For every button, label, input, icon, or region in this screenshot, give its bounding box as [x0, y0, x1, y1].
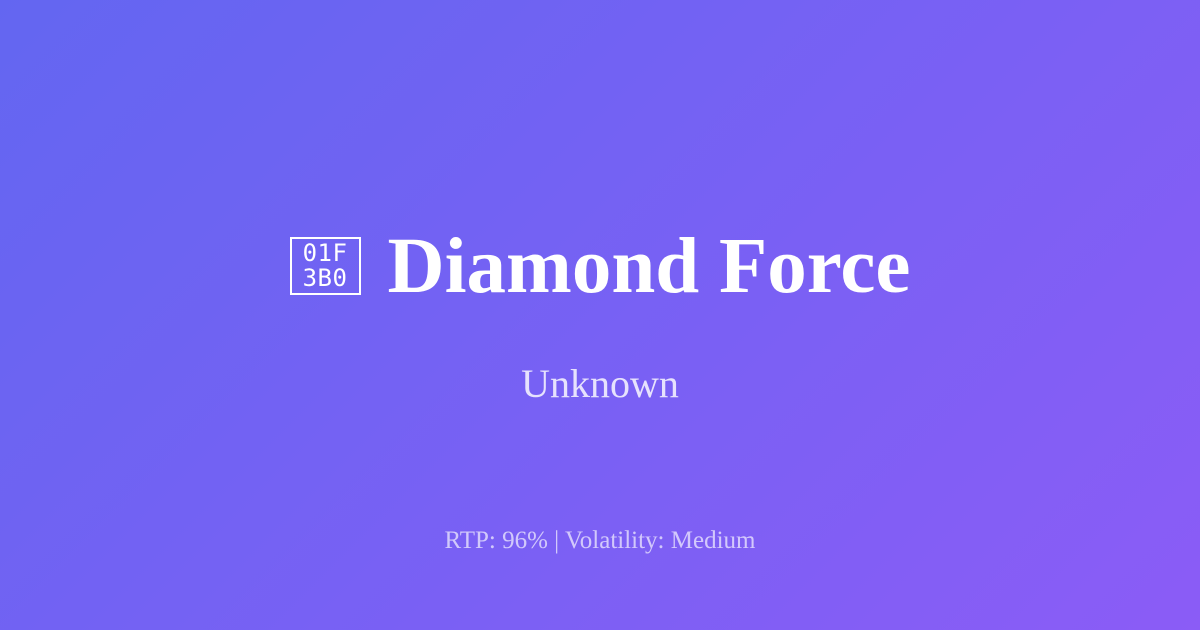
slot-machine-icon-hex-bottom: 3B0	[303, 266, 348, 291]
game-stats: RTP: 96% | Volatility: Medium	[0, 528, 1200, 553]
game-og-card: 01F 3B0 Diamond Force Unknown RTP: 96% |…	[0, 0, 1200, 630]
game-provider: Unknown	[521, 364, 679, 404]
title-row: 01F 3B0 Diamond Force	[0, 227, 1200, 306]
game-title: Diamond Force	[388, 227, 911, 306]
slot-machine-icon-hex-top: 01F	[303, 241, 348, 266]
slot-machine-icon: 01F 3B0	[290, 237, 361, 295]
